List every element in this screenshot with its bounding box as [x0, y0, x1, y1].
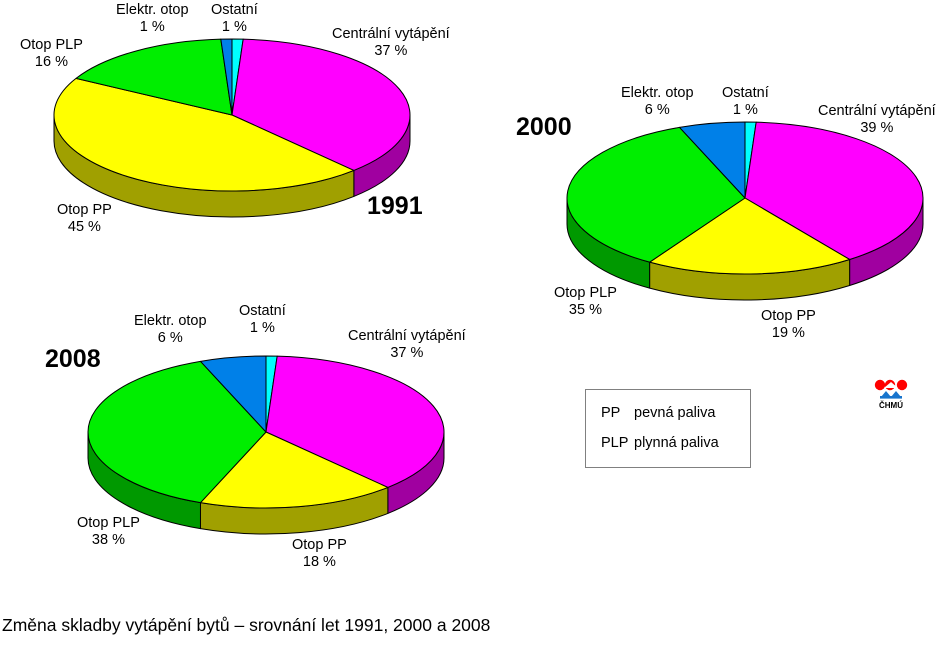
- slice-label-2008-Elektr. otop: Elektr. otop6 %: [134, 313, 207, 347]
- slice-label-2008-Centrální vytápění: Centrální vytápění37 %: [348, 328, 466, 362]
- legend-row-PP: PPpevná paliva: [601, 405, 715, 421]
- chmu-logo-mark: [869, 378, 913, 402]
- chart-year-2008: 2008: [45, 345, 101, 374]
- slice-label-name: Otop PP: [292, 537, 347, 554]
- slice-label-value: 18 %: [292, 554, 347, 571]
- slice-label-name: Ostatní: [239, 303, 286, 320]
- pie-chart-2008: Ostatní1 %Centrální vytápění37 %Otop PP1…: [0, 0, 950, 647]
- slice-label-value: 38 %: [77, 532, 140, 549]
- slice-label-2008-Otop PP: Otop PP18 %: [292, 537, 347, 571]
- slice-label-name: Centrální vytápění: [348, 328, 466, 345]
- chart-canvas: Ostatní1 %Centrální vytápění37 %Otop PP4…: [0, 0, 950, 647]
- slice-label-value: 1 %: [239, 320, 286, 337]
- slice-label-value: 37 %: [348, 345, 466, 362]
- slice-label-name: Elektr. otop: [134, 313, 207, 330]
- legend-text: plynná paliva: [634, 435, 719, 451]
- legend-box: PPpevná palivaPLPplynná paliva: [585, 389, 751, 468]
- slice-label-value: 6 %: [134, 330, 207, 347]
- slice-label-name: Otop PLP: [77, 515, 140, 532]
- slice-label-2008-Ostatní: Ostatní1 %: [239, 303, 286, 337]
- legend-abbr: PLP: [601, 435, 634, 451]
- slice-label-2008-Otop PLP: Otop PLP38 %: [77, 515, 140, 549]
- pie-top-faces-2008: [88, 356, 444, 508]
- figure-caption: Změna skladby vytápění bytů – srovnání l…: [2, 615, 490, 636]
- chmu-logo: ČHMÚ: [869, 378, 913, 412]
- legend-abbr: PP: [601, 405, 634, 421]
- chmu-logo-text: ČHMÚ: [869, 401, 913, 410]
- legend-text: pevná paliva: [634, 405, 715, 421]
- legend-row-PLP: PLPplynná paliva: [601, 435, 719, 451]
